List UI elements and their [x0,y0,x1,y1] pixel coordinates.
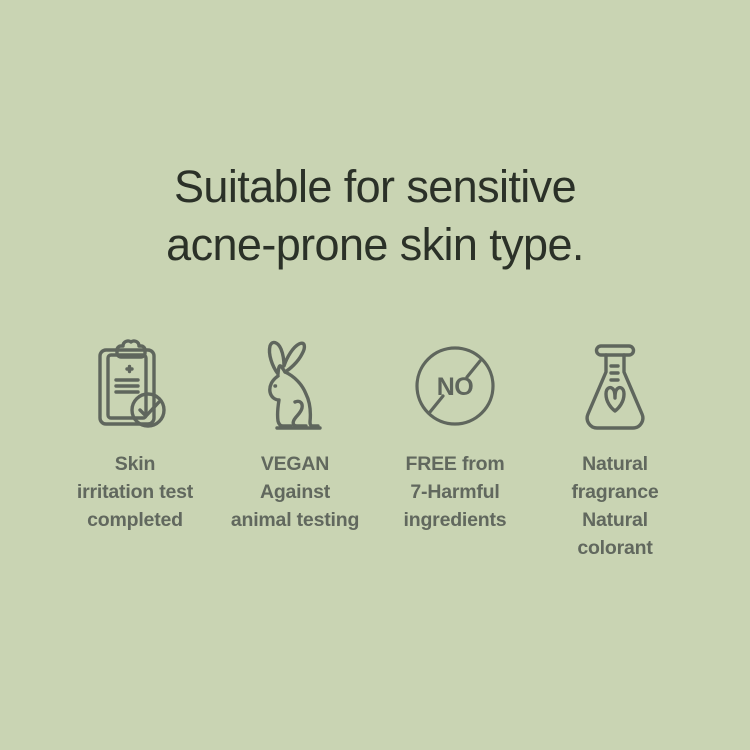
feature-label-line: Natural [571,450,658,478]
rabbit-icon [254,336,336,436]
feature-label-line: ingredients [404,506,507,534]
product-claims-banner: Suitable for sensitive acne-prone skin t… [0,0,750,750]
feature-label: Skin irritation test completed [77,450,193,534]
flask-leaf-icon [575,336,655,436]
feature-label-line: 7-Harmful [404,478,507,506]
feature-label-line: Natural [571,506,658,534]
feature-label: VEGAN Against animal testing [231,450,359,534]
feature-vegan: VEGAN Against animal testing [215,336,375,534]
page-title-line-1: Suitable for sensitive [55,158,695,216]
page-title: Suitable for sensitive acne-prone skin t… [55,158,695,274]
page-title-line-2: acne-prone skin type. [55,216,695,274]
no-label: NO [437,373,474,401]
feature-label-line: VEGAN [231,450,359,478]
feature-label-line: FREE from [404,450,507,478]
feature-free-from-harmful: NO FREE from 7-Harmful ingredients [375,336,535,534]
feature-label-line: animal testing [231,506,359,534]
feature-label: FREE from 7-Harmful ingredients [404,450,507,534]
feature-label: Natural fragrance Natural colorant [571,450,658,562]
feature-label-line: Against [231,478,359,506]
feature-list: Skin irritation test completed [55,336,695,562]
feature-natural-fragrance-colorant: Natural fragrance Natural colorant [535,336,695,562]
feature-label-line: completed [77,506,193,534]
feature-skin-irritation-test: Skin irritation test completed [55,336,215,534]
clipboard-check-icon [87,336,183,436]
feature-label-line: fragrance [571,478,658,506]
feature-label-line: colorant [571,534,658,562]
feature-label-line: irritation test [77,478,193,506]
no-prohibition-icon: NO [408,336,502,436]
feature-label-line: Skin [77,450,193,478]
